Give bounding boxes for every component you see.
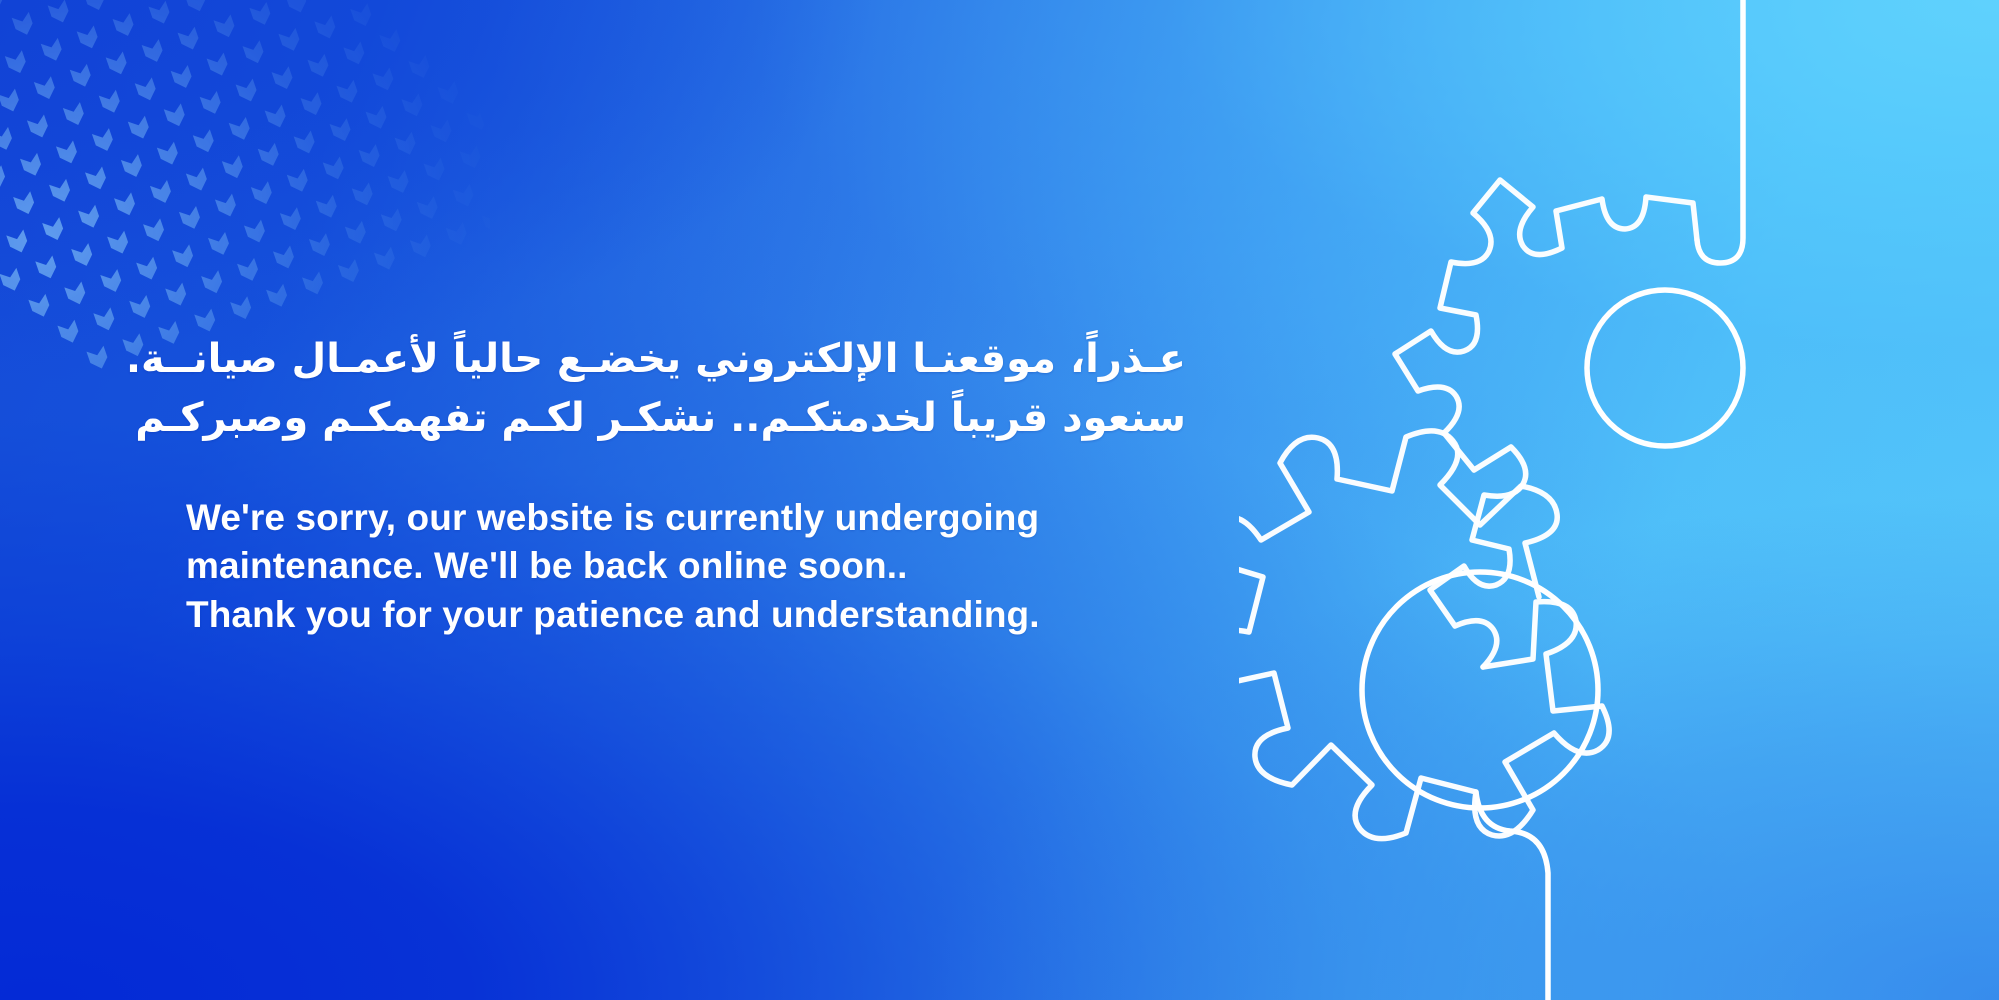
arabic-line-2: سنعود قريباً لخدمتكـم.. نشكـر لكـم تفهمك… [186, 389, 1186, 448]
english-line-3: Thank you for your patience and understa… [186, 591, 1186, 639]
message-block: عـذراً، موقعنـا الإلكتروني يخضـع حالياً … [186, 330, 1186, 639]
maintenance-page: عـذراً، موقعنـا الإلكتروني يخضـع حالياً … [0, 0, 1999, 1000]
arabic-message: عـذراً، موقعنـا الإلكتروني يخضـع حالياً … [186, 330, 1186, 448]
arabic-line-1: عـذراً، موقعنـا الإلكتروني يخضـع حالياً … [186, 330, 1186, 389]
english-line-2: maintenance. We'll be back online soon.. [186, 542, 1186, 590]
english-message: We're sorry, our website is currently un… [186, 494, 1186, 638]
english-line-1: We're sorry, our website is currently un… [186, 494, 1186, 542]
